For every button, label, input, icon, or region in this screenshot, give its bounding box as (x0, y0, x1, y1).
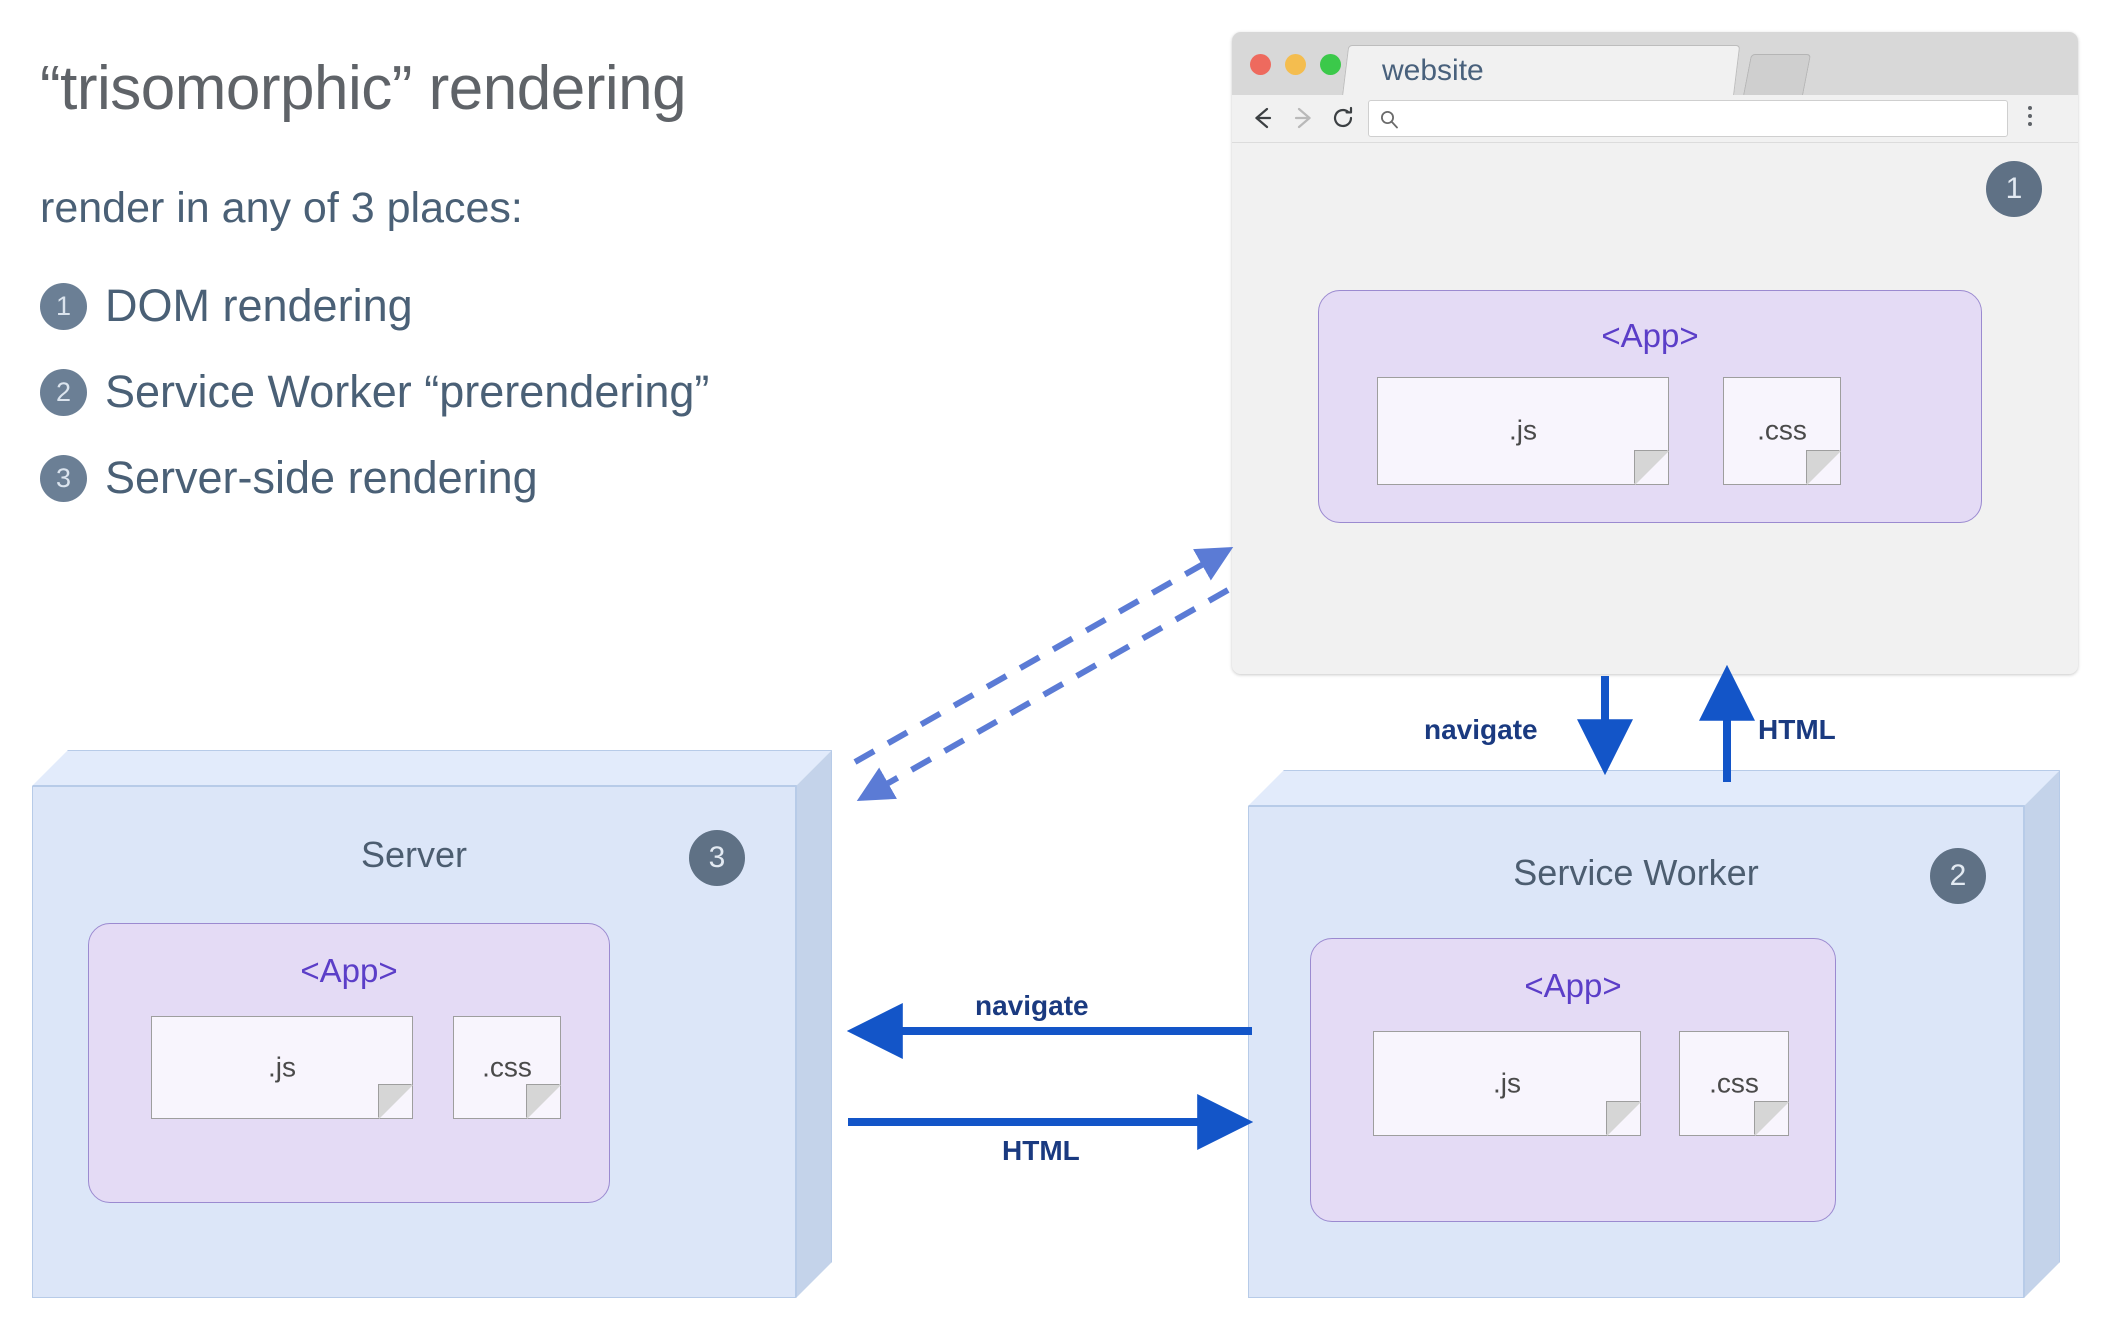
back-arrow-icon[interactable] (1246, 101, 1280, 135)
app-container-sw: <App> .js .css (1310, 938, 1836, 1222)
list-item-label: Server-side rendering (105, 452, 538, 504)
status-badge: 1 (1986, 161, 2042, 217)
service-worker-box: Service Worker 2 <App> .js .css (1248, 770, 2078, 1298)
new-tab-button[interactable] (1743, 54, 1811, 96)
minimize-dot-yellow-icon[interactable] (1285, 54, 1306, 75)
css-file-label: .css (1680, 1067, 1788, 1099)
list-item: 2 Service Worker “prerendering” (40, 361, 1100, 423)
service-worker-title: Service Worker (1248, 852, 2024, 894)
browser-viewport: 1 <App> .js .css (1232, 143, 2078, 674)
list-badge-3: 3 (40, 455, 87, 502)
css-file-icon: .css (1679, 1031, 1789, 1136)
cube-side-face (2024, 770, 2060, 1298)
js-file-label: .js (1378, 414, 1668, 446)
dashed-arrow-to-browser (855, 550, 1228, 762)
status-badge: 2 (1930, 848, 1986, 904)
forward-arrow-icon[interactable] (1286, 101, 1320, 135)
list-item: 3 Server-side rendering (40, 447, 1100, 509)
js-file-icon: .js (151, 1016, 413, 1119)
page-title: “trisomorphic” rendering (40, 56, 1100, 121)
app-container-browser: <App> .js .css (1318, 290, 1982, 523)
list-item-label: DOM rendering (105, 280, 413, 332)
app-title: <App> (1311, 967, 1835, 1005)
js-file-label: .js (1374, 1067, 1640, 1099)
arrow-label-html-up: HTML (1758, 714, 1836, 746)
subtitle: render in any of 3 places: (40, 121, 1100, 233)
cube-top-face (32, 750, 832, 786)
server-title: Server (32, 834, 796, 876)
status-badge: 3 (689, 830, 745, 886)
kebab-menu-icon[interactable] (2028, 106, 2032, 126)
dashed-arrow-to-server (862, 590, 1228, 798)
arrow-label-html-right: HTML (1002, 1135, 1080, 1167)
search-input[interactable] (1368, 100, 2008, 137)
list-badge-2: 2 (40, 369, 87, 416)
css-file-icon: .css (453, 1016, 561, 1119)
close-dot-red-icon[interactable] (1250, 54, 1271, 75)
render-places-list: 1 DOM rendering 2 Service Worker “preren… (40, 233, 1100, 509)
js-file-icon: .js (1373, 1031, 1641, 1136)
js-file-label: .js (152, 1051, 412, 1083)
js-file-icon: .js (1377, 377, 1669, 485)
app-container-server: <App> .js .css (88, 923, 610, 1203)
arrow-label-navigate-left: navigate (975, 990, 1089, 1022)
reload-icon[interactable] (1326, 101, 1360, 135)
server-box: Server 3 <App> .js .css (32, 750, 850, 1298)
list-badge-1: 1 (40, 283, 87, 330)
tab-website-label: website (1382, 54, 1484, 88)
cube-side-face (796, 750, 832, 1298)
browser-window: website 1 <App> .js (1232, 32, 2078, 674)
css-file-icon: .css (1723, 377, 1841, 485)
cube-top-face (1248, 770, 2060, 806)
app-title: <App> (1319, 317, 1981, 355)
app-title: <App> (89, 952, 609, 990)
window-controls[interactable] (1250, 54, 1341, 75)
css-file-label: .css (454, 1051, 560, 1083)
browser-toolbar (1232, 95, 2078, 143)
maximize-dot-green-icon[interactable] (1320, 54, 1341, 75)
css-file-label: .css (1724, 414, 1840, 446)
search-icon (1379, 109, 1400, 135)
arrow-label-navigate-down: navigate (1424, 714, 1538, 746)
list-item-label: Service Worker “prerendering” (105, 366, 709, 418)
intro-panel: “trisomorphic” rendering render in any o… (40, 56, 1100, 533)
browser-tab-bar: website (1232, 32, 2078, 95)
list-item: 1 DOM rendering (40, 275, 1100, 337)
